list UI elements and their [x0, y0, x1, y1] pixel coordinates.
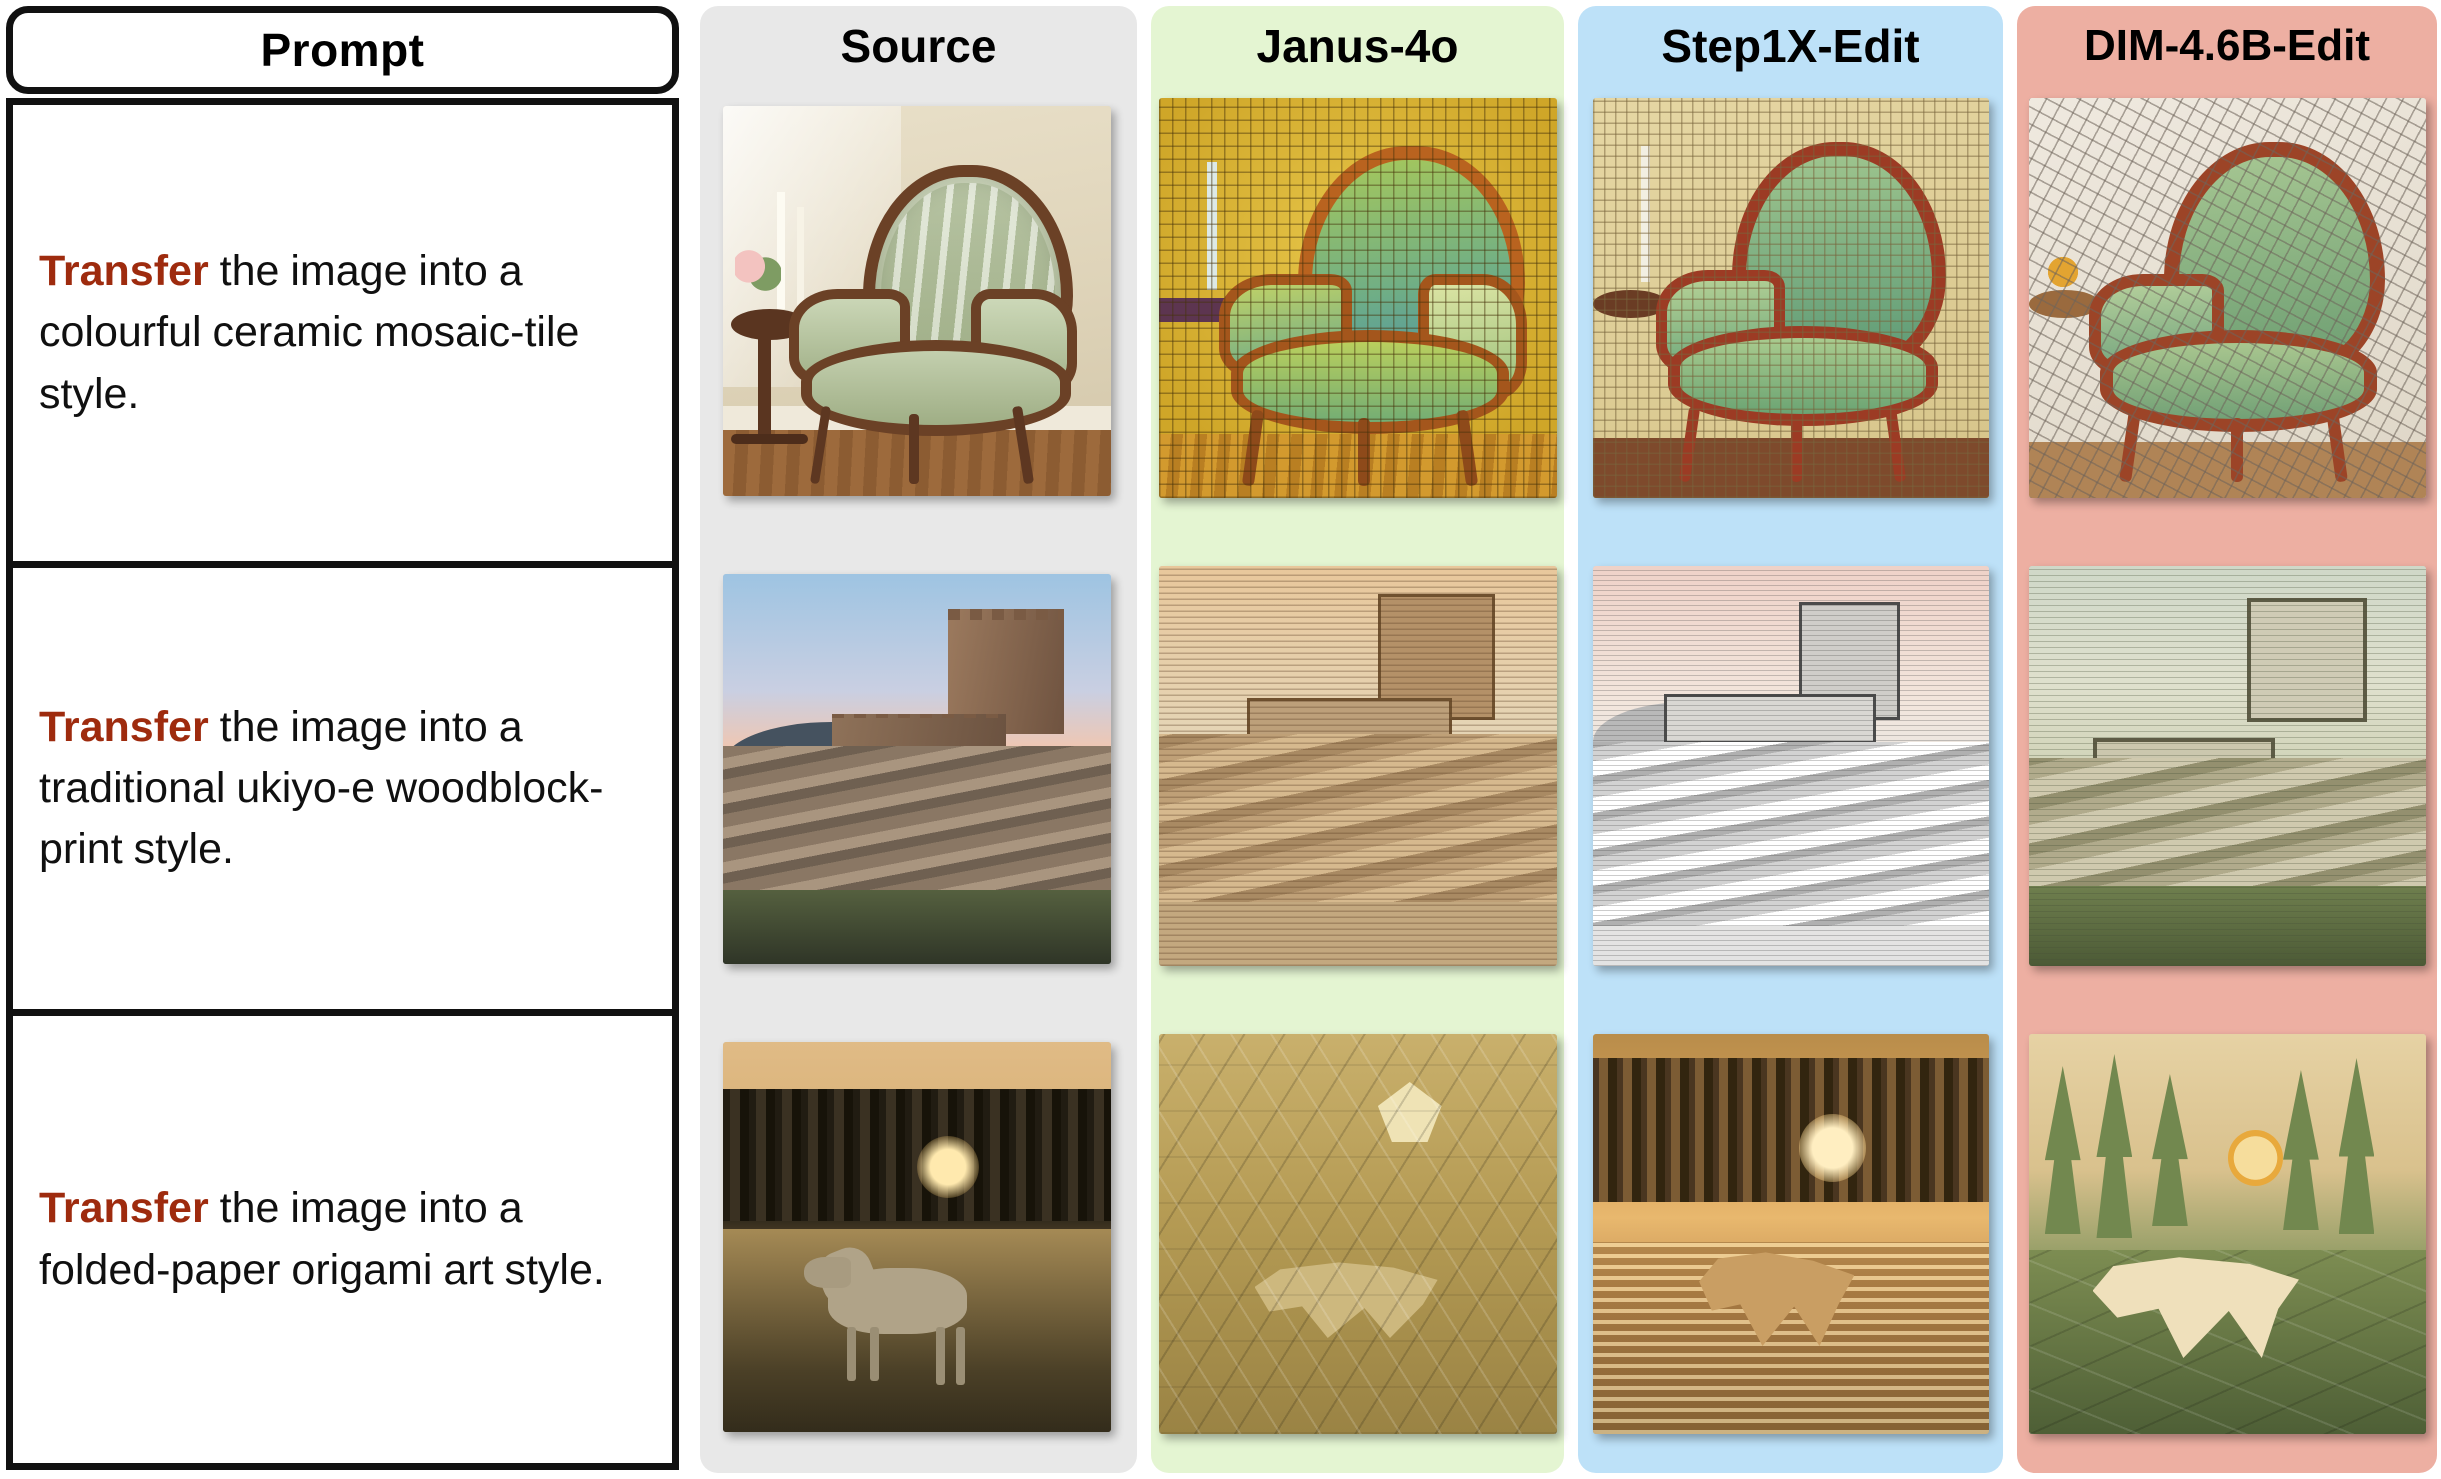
image-source-row-origami — [723, 1042, 1111, 1432]
prompt-text-row-2: Transfer the image into a traditional uk… — [39, 697, 650, 880]
source-column-header-label: Source — [841, 19, 997, 73]
image-step1x-row-ukiyoe — [1593, 566, 1989, 966]
column-dim-4-6b-edit: DIM-4.6B-Edit — [2017, 6, 2437, 1473]
image-dim-row-origami — [2029, 1034, 2426, 1434]
image-dim-row-ukiyoe — [2029, 566, 2426, 966]
prompt-keyword-row-3: Transfer — [39, 1184, 209, 1232]
comparison-figure: Prompt Transfer the image into a colourf… — [0, 0, 2441, 1479]
image-janus-row-mosaic — [1159, 98, 1557, 498]
image-janus-row-origami — [1159, 1034, 1557, 1434]
prompt-keyword-row-1: Transfer — [39, 247, 209, 295]
dim-column-header-label: DIM-4.6B-Edit — [2084, 21, 2370, 71]
column-source: Source — [700, 6, 1137, 1473]
image-janus-row-ukiyoe — [1159, 566, 1557, 966]
source-column-header: Source — [700, 6, 1137, 86]
prompt-cell-row-3: Transfer the image into a folded-paper o… — [13, 1016, 672, 1463]
column-step1x-edit: Step1X-Edit — [1578, 6, 2003, 1473]
image-source-row-ukiyoe — [723, 574, 1111, 964]
prompt-table: Prompt Transfer the image into a colourf… — [6, 6, 679, 1470]
prompt-cell-row-2: Transfer the image into a traditional uk… — [13, 568, 672, 1016]
prompt-cell-row-1: Transfer the image into a colourful cera… — [13, 105, 672, 568]
prompt-keyword-row-2: Transfer — [39, 703, 209, 751]
prompt-table-body: Transfer the image into a colourful cera… — [6, 98, 679, 1470]
step1x-column-header-label: Step1X-Edit — [1661, 19, 1919, 73]
prompt-column-header: Prompt — [6, 6, 679, 94]
image-dim-row-mosaic — [2029, 98, 2426, 498]
image-source-row-mosaic — [723, 106, 1111, 496]
prompt-text-row-1: Transfer the image into a colourful cera… — [39, 241, 650, 424]
dim-column-header: DIM-4.6B-Edit — [2017, 6, 2437, 86]
janus-column-header: Janus-4o — [1151, 6, 1564, 86]
image-step1x-row-origami — [1593, 1034, 1989, 1434]
column-janus-4o: Janus-4o — [1151, 6, 1564, 1473]
step1x-column-header: Step1X-Edit — [1578, 6, 2003, 86]
prompt-column-header-label: Prompt — [261, 23, 425, 77]
prompt-text-row-3: Transfer the image into a folded-paper o… — [39, 1178, 650, 1300]
janus-column-header-label: Janus-4o — [1257, 19, 1459, 73]
image-step1x-row-mosaic — [1593, 98, 1989, 498]
